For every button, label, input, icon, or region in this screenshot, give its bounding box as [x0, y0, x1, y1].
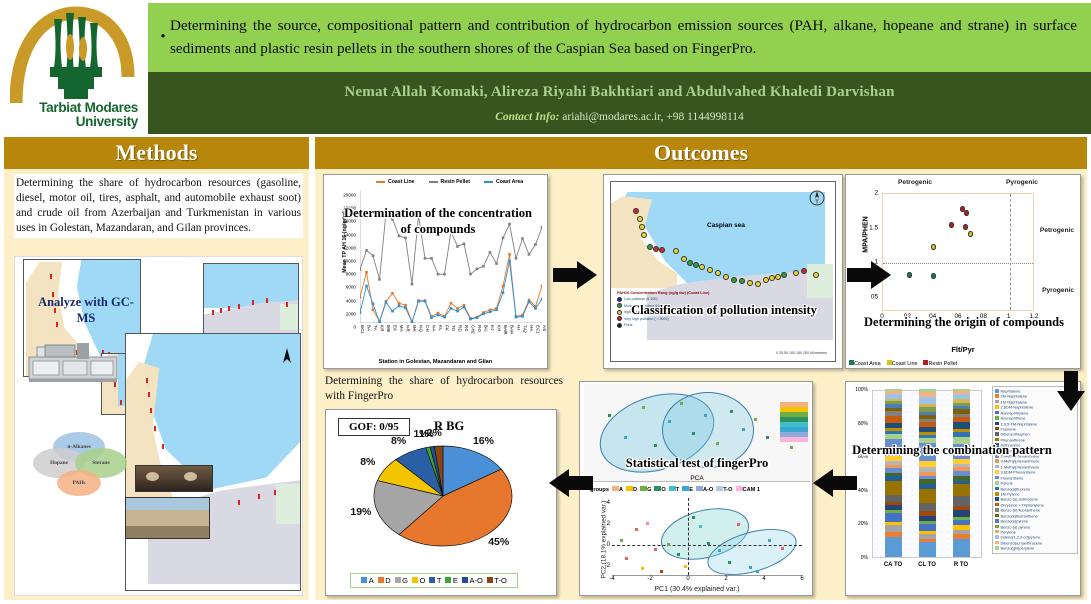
gcms-analysis-label: Analyze with GC-MS [31, 295, 141, 326]
x-tick: T-A2 [523, 325, 528, 332]
scatter-y-tick: 05 [871, 294, 878, 301]
map-legend-title: PAH16 Concentration Rang (ng/g dw) (Coas… [617, 290, 735, 295]
scatter-point [968, 231, 973, 237]
pca-biplot: groups A D G O T E A-O T-O CAM 1 PC2 (18… [584, 484, 810, 594]
map-frame: Caspian sea PAH16 Concentration Rang (ng… [610, 181, 836, 362]
contact-info: Contact Info: ariahi@modares.ac.ir, +98 … [148, 101, 1091, 123]
stacked-bars-plot [872, 390, 982, 558]
pca-point [635, 528, 638, 531]
x-tick: N-A [432, 325, 437, 331]
stacked-bar-segment [919, 542, 936, 557]
fingerpro-pie-panel: GOF: 0/95 R BG 16%45%19%8%8%1%1%2% ADGOT… [325, 409, 557, 596]
scatter-y-tick: 2 [874, 190, 878, 197]
line-chart-x-ticks: B-C1B-AT-AK-RB-BrE-KM-AN-RM-KN-QC-HN-AK-… [360, 325, 542, 351]
main-study-area-map [125, 333, 301, 591]
arrow-line-chart-to-map [553, 261, 599, 289]
author-band: Nemat Allah Komaki, Alireza Riyahi Bakht… [148, 72, 1091, 134]
x-tick: B-A/A [510, 325, 515, 334]
scatter-legend-resin-pellet: Resin Pellet [923, 360, 957, 367]
pca-point [677, 553, 680, 556]
pca-point [667, 543, 670, 546]
arrow-map-to-scatter [847, 261, 893, 289]
quadrant-label-top-left: Petrogenic [898, 179, 932, 186]
scatter-plot-area [882, 193, 1034, 311]
caption-origin: Determining the origin of compounds [846, 315, 1081, 330]
stacked-bar-column [953, 389, 970, 557]
contact-label: Contact Info: [495, 111, 559, 123]
stacked-y-tick: 40% [858, 488, 868, 494]
pca-groups-legend: groups A D G O T E A-O T-O CAM 1 [590, 486, 760, 493]
scatter-point [931, 273, 936, 279]
y-tick: 8000 [346, 272, 356, 277]
beach-photo [125, 497, 210, 539]
pie-legend-item: E [445, 576, 458, 585]
resin-pellet-photo [135, 465, 213, 492]
scatter-point [963, 224, 968, 230]
station-dot [755, 281, 761, 287]
pca-hline [612, 545, 802, 546]
x-tick: B-U [484, 325, 489, 331]
university-logo: Tarbiat Modares University [0, 0, 148, 134]
x-tick: K-L [438, 325, 443, 330]
caption-share: Determining the share of hydrocarbon res… [325, 374, 563, 404]
x-tick: E-C1 [536, 325, 541, 333]
pca-point [718, 549, 721, 552]
y-tick: 4000 [346, 298, 356, 303]
y-tick: 12000 [343, 245, 356, 250]
pca-x-tick: 6 [800, 576, 803, 582]
pie-pct-label: 8% [360, 456, 375, 468]
x-tick: B-A/R [503, 325, 508, 334]
station-dot [707, 267, 713, 273]
x-tick: A-S [542, 325, 547, 331]
pca-upper-point [642, 406, 645, 409]
x-tick: K-R [380, 325, 385, 331]
pollution-map-panel: Caspian sea PAH16 Concentration Rang (ng… [603, 174, 843, 369]
pie-legend-item: G [395, 576, 408, 585]
caption-classification: Classification of pollution intensity [604, 303, 843, 318]
y-tick: 20000 [343, 193, 356, 198]
pie-legend-item: A [361, 576, 374, 585]
station-dot [731, 277, 737, 283]
outcomes-section-header: Outcomes [315, 137, 1087, 169]
pca-point [728, 561, 731, 564]
pca-point [768, 539, 771, 542]
station-dot [699, 264, 705, 270]
stacked-y-tick: 0% [861, 555, 868, 561]
pca-y-tick: 2 [607, 521, 610, 527]
arrow-stacked-to-pca [811, 469, 857, 497]
stacked-bar-column [919, 389, 936, 557]
pca-top-title: PCA [584, 475, 810, 482]
pca-x-label: PC1 (30.4% explained var.) [584, 586, 810, 593]
poster-title-band: • Determining the source, compositional … [148, 3, 1091, 72]
pca-point [641, 567, 644, 570]
y-tick: 6000 [346, 285, 356, 290]
x-tick: K-H [497, 325, 502, 331]
x-tick: N-Q [419, 325, 424, 331]
poster-title: Determining the source, compositional pa… [170, 15, 1091, 59]
pca-upper-point [680, 402, 683, 405]
pie-legend: ADGOTEA-OT-O [350, 573, 518, 588]
quadrant-label-right-upper: Petrogenic [1040, 227, 1074, 234]
x-tick: M-K [412, 325, 417, 331]
station-dot [793, 270, 799, 276]
stacked-bar-segment [953, 422, 970, 429]
x-tick: T-A [373, 325, 378, 330]
pca-upper-point [624, 436, 627, 439]
statistical-test-panel: PCA groups A D G O T E A-O T-O CAM 1 PC2… [579, 381, 813, 596]
legend-resin-pellet: Resin Pellet [429, 179, 470, 185]
y-tick: 2000 [346, 311, 356, 316]
station-dot [659, 247, 665, 253]
pca-point [620, 539, 623, 542]
pca-point [699, 525, 702, 528]
pca-x-tick: -4 [609, 576, 614, 582]
pca-upper-point [668, 420, 671, 423]
pie-pct-label: 45% [488, 536, 509, 548]
methods-figure-panel: Analyze with GC-MS n-Alkanes Hopane Ster… [14, 256, 303, 596]
scatter-vline [1010, 194, 1011, 310]
station-dot [781, 272, 787, 278]
pca-upper-point [704, 414, 707, 417]
stacked-bars-categories: CA TOCL TOR TO [872, 562, 982, 574]
pca-x-tick: 0 [686, 576, 689, 582]
gc-ms-instrument-icon [25, 341, 125, 383]
logo-wordmark: Tarbiat Modares University [10, 101, 138, 129]
station-dot [715, 270, 721, 276]
map-scalebar: 0 25 50 100 150 200 Kilometers [776, 351, 827, 355]
pca-y-tick: 0 [607, 542, 610, 548]
x-tick: B-Br [386, 325, 391, 332]
author-list: Nemat Allah Komaki, Alireza Riyahi Bakht… [148, 72, 1091, 101]
line-chart-x-label: Station in Golestan, Mazandaran and Gila… [324, 359, 547, 365]
x-tick: H-I [516, 325, 521, 329]
stacked-bar-category: CL TO [910, 562, 944, 568]
stacked-bar-segment [885, 481, 902, 494]
stacked-bar-segment [953, 510, 970, 517]
x-tick: B-C1 [360, 325, 365, 333]
pca-x-tick: -2 [647, 576, 652, 582]
pca-upper-point [790, 446, 793, 449]
sampling-station-dots [611, 182, 835, 361]
x-tick: E-K [393, 325, 398, 331]
x-tick: F-K [445, 325, 450, 331]
station-dot [813, 272, 819, 278]
methods-section-header: Methods [4, 137, 309, 169]
quadrant-label-top-right: Pyrogenic [1006, 179, 1038, 186]
arrow-scatter-to-stacked [1057, 371, 1085, 413]
stacked-bar-segment [953, 539, 970, 557]
pie-legend-item: T-O [487, 576, 507, 585]
pie-legend-item: A-O [462, 576, 483, 585]
x-tick: C-H2 [471, 325, 476, 333]
logo-mark [10, 3, 138, 107]
arrow-pca-to-pie [547, 469, 593, 497]
pca-x-tick: 4 [762, 576, 765, 582]
pca-point [737, 523, 740, 526]
x-tick: R-D [458, 325, 463, 331]
stacked-bar-segment [885, 416, 902, 423]
pca-point [707, 542, 710, 545]
scatter-y-ticks: 0511.52 [858, 193, 878, 311]
station-dot [633, 208, 639, 214]
station-dot [639, 224, 645, 230]
pca-y-tick: -2 [605, 563, 610, 569]
stacked-bar-segment [919, 489, 936, 504]
north-arrow-icon [282, 348, 292, 364]
stacked-bar-segment [919, 503, 936, 511]
x-tick: R-O [477, 325, 482, 331]
poster-header: Tarbiat Modares University • Determining… [0, 0, 1091, 134]
x-tick: M-A [399, 325, 404, 331]
y-tick: 10000 [343, 259, 356, 264]
composition-stacked-bars-panel: 0%20%40%60%80%100% CA TOCL TOR TO Naphta… [845, 381, 1081, 596]
stacked-bar-segment [885, 537, 902, 557]
pie-legend-item: T [429, 576, 441, 585]
station-dot [723, 274, 729, 280]
bullet-icon: • [148, 29, 170, 46]
pie-pct-label: 8% [391, 435, 406, 447]
pca-point [654, 548, 657, 551]
poster-root: Tarbiat Modares University • Determining… [0, 0, 1091, 604]
station-dot [681, 256, 687, 262]
stacked-y-tick: 20% [858, 521, 868, 527]
pca-upper-point [742, 428, 745, 431]
scatter-legend-coast-line: Coast Line [887, 360, 918, 367]
pca-point [684, 565, 687, 568]
station-dot [637, 216, 643, 222]
stacked-bar-column [885, 389, 902, 557]
stacked-y-tick: 100% [855, 387, 868, 393]
pca-upper-point [608, 414, 611, 417]
contact-value: ariahi@modares.ac.ir, +98 1144998114 [562, 111, 744, 123]
y-tick: 0 [353, 325, 356, 330]
scatter-legend: Coast Area Coast Line Resin Pellet [849, 360, 957, 367]
methods-body-text: Determining the share of hydrocarbon res… [14, 174, 303, 238]
scatter-y-tick: 1.5 [869, 224, 878, 231]
pca-point [781, 547, 784, 550]
pca-upper-point [654, 444, 657, 447]
station-dot [673, 248, 679, 254]
line-chart-legend: Coast Line Resin Pellet Coast Area [376, 179, 523, 185]
stacked-bar-segment [885, 513, 902, 521]
station-dot [801, 268, 807, 274]
station-dot [641, 232, 647, 238]
scatter-point [907, 272, 912, 278]
map-legend-item: Ports [617, 323, 735, 328]
pie-pct-label: 19% [350, 506, 371, 518]
pca-upper-point [754, 418, 757, 421]
scatter-legend-coast-area: Coast Area [849, 360, 881, 367]
pca-upper-point [692, 432, 695, 435]
caption-combination: Determining the combination pattern [852, 442, 1052, 458]
logo-line-1: Tarbiat Modares [10, 101, 138, 115]
legend-coast-area: Coast Area [484, 179, 523, 185]
quadrant-label-right-lower: Pyrogenic [1042, 287, 1074, 294]
x-tick: C-H [425, 325, 430, 331]
scatter-point [931, 244, 936, 250]
pca-point [646, 522, 649, 525]
venn-pahs: PAHs [57, 470, 101, 496]
stacked-bar-category: R TO [944, 562, 978, 568]
pca-y-tick: 4 [607, 500, 610, 506]
pca-point [756, 570, 759, 573]
pca-point [749, 566, 752, 569]
pie-legend-item: D [378, 576, 391, 585]
x-tick: N-R [406, 325, 411, 331]
pca-plot-area [612, 498, 802, 576]
scatter-point [949, 222, 954, 228]
stacked-legend-item: Benzo(ghi)perylene [995, 546, 1075, 551]
concentration-line-chart-panel: Coast Line Resin Pellet Coast Area Mean … [323, 174, 548, 369]
x-tick: T-O [451, 325, 456, 331]
station-dot [747, 280, 753, 286]
pca-vline [688, 498, 689, 575]
stacked-bar-segment [885, 525, 902, 532]
stacked-bar-category: CA TO [876, 562, 910, 568]
stacked-bar-segment [953, 496, 970, 506]
pca-point [692, 516, 695, 519]
pca-x-ticks: -4-20246 [612, 576, 802, 586]
pca-x-tick: 2 [724, 576, 727, 582]
pie-value-labels: 16%45%19%8%8%1%1%2% [326, 410, 556, 595]
stacked-bar-segment [885, 495, 902, 502]
map-legend-item: Low pollution (0-100) [617, 297, 735, 302]
caption-concentration: Determination of the concentration of co… [340, 205, 536, 238]
pie-pct-label: 16% [473, 435, 494, 447]
stacked-bar-segment [953, 484, 970, 496]
pca-point [625, 557, 628, 560]
pie-legend-item: O [412, 576, 425, 585]
pie-pct-label: 2% [427, 427, 442, 439]
x-tick: K-J [490, 325, 495, 330]
pca-upper-point [730, 410, 733, 413]
caption-statistical: Statistical test of fingerPro [580, 456, 813, 471]
pca-upper-legend [780, 402, 808, 446]
x-tick: R-S [464, 325, 469, 331]
x-tick: B-A [367, 325, 372, 331]
station-dot [739, 278, 745, 284]
pca-point [660, 570, 663, 573]
scatter-x-label: Flt/Pyr [846, 345, 1080, 354]
outcomes-column: Coast Line Resin Pellet Coast Area Mean … [315, 169, 1087, 600]
logo-line-2: University [10, 115, 138, 129]
methods-column: Determining the share of hydrocarbon res… [4, 169, 309, 600]
compound-classes-venn: n-Alkanes Hopane Sterane PAHs [31, 432, 135, 502]
pca-upper-point [716, 442, 719, 445]
pca-upper-point [766, 436, 769, 439]
x-tick: H-A [529, 325, 534, 331]
pca-y-ticks: -2024 [594, 498, 610, 576]
scatter-point [964, 210, 969, 216]
legend-coast-line: Coast Line [376, 179, 415, 185]
stacked-y-tick: 80% [858, 421, 868, 427]
